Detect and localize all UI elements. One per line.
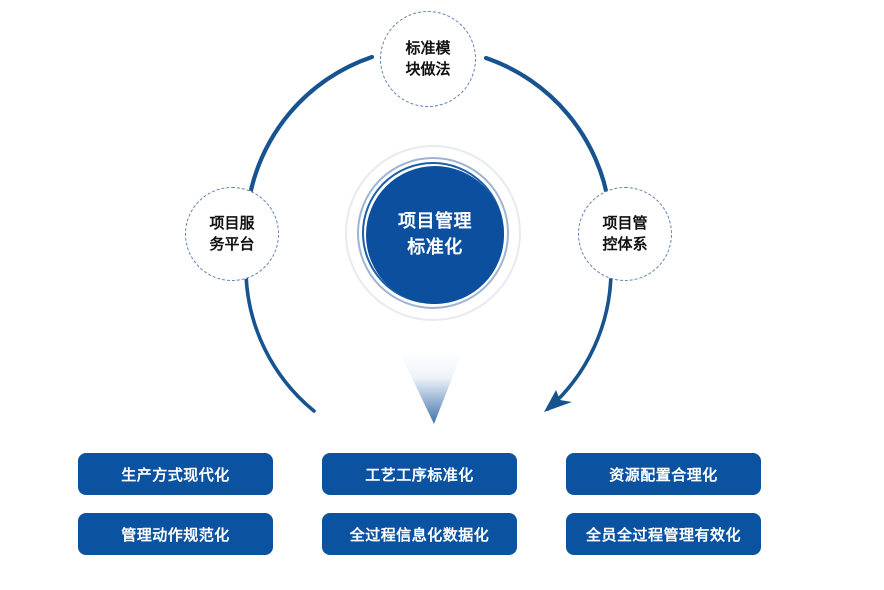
diagram-canvas: 项目管理 标准化 标准模 块做法 项目服 务平台 项目管 控体系 生产方式现代化… xyxy=(0,0,884,590)
outcome-box-col3-row2[interactable]: 全员全过程管理有效化 xyxy=(566,513,761,555)
node-label-service-platform: 项目服 务平台 xyxy=(209,213,254,256)
node-label-control-system: 项目管 控体系 xyxy=(602,213,647,256)
outcome-box-col2-row2[interactable]: 全过程信息化数据化 xyxy=(322,513,517,555)
node-circle-standard-module[interactable]: 标准模 块做法 xyxy=(380,11,476,107)
outcome-box-col1-row2[interactable]: 管理动作规范化 xyxy=(78,513,273,555)
outcome-box-col3-row1[interactable]: 资源配置合理化 xyxy=(566,453,761,495)
center-emblem: 项目管理 标准化 xyxy=(345,145,525,325)
outcome-label-col3-row2: 全员全过程管理有效化 xyxy=(586,524,741,545)
node-label-standard-module: 标准模 块做法 xyxy=(405,38,450,81)
node-circle-service-platform[interactable]: 项目服 务平台 xyxy=(185,187,279,281)
node-circle-control-system[interactable]: 项目管 控体系 xyxy=(578,187,672,281)
outcome-label-col2-row1: 工艺工序标准化 xyxy=(365,464,474,485)
outcome-label-col2-row2: 全过程信息化数据化 xyxy=(350,524,490,545)
outcome-label-col1-row2: 管理动作规范化 xyxy=(121,524,230,545)
emblem-core-disc: 项目管理 标准化 xyxy=(366,166,504,304)
arc-arrowhead xyxy=(544,390,572,412)
arc-segment-lower-right xyxy=(548,272,611,409)
outcome-box-col2-row1[interactable]: 工艺工序标准化 xyxy=(322,453,517,495)
down-arrow xyxy=(400,353,462,424)
outcome-box-col1-row1[interactable]: 生产方式现代化 xyxy=(78,453,273,495)
outcome-label-col3-row1: 资源配置合理化 xyxy=(609,464,718,485)
center-label: 项目管理 标准化 xyxy=(398,209,472,261)
outcome-label-col1-row1: 生产方式现代化 xyxy=(121,464,230,485)
arc-segment-lower-left xyxy=(246,274,314,411)
